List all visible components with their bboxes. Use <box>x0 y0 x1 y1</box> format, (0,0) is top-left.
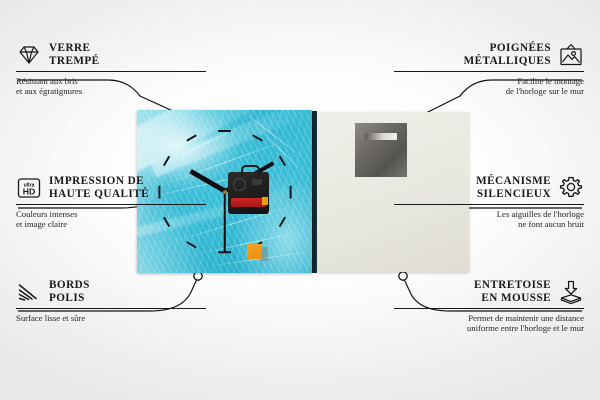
feature-verre-trempe: VERRE TREMPÉ Résistant aux bris et aux é… <box>16 42 206 97</box>
feature-description: Les aiguilles de l'horloge ne font aucun… <box>394 209 584 230</box>
hanger-plate-slot <box>365 133 397 140</box>
feature-divider <box>16 71 206 72</box>
feature-divider <box>394 71 584 72</box>
foam-spacer-shadow <box>261 247 268 261</box>
ultra-hd-icon: ultra HD <box>16 175 42 201</box>
feature-description: Résistant aux bris et aux égratignures <box>16 76 206 97</box>
feature-impression-haute-qualite: ultra HD IMPRESSION DE HAUTE QUALITÉ Cou… <box>16 175 206 230</box>
svg-text:HD: HD <box>23 187 35 197</box>
mechanism-chip <box>252 179 262 185</box>
feature-bords-polis: BORDS POLIS Surface lisse et sûre <box>16 279 206 323</box>
clock-tick <box>289 185 291 198</box>
metal-hanger-plate <box>355 123 407 177</box>
feature-title: BORDS POLIS <box>49 279 90 304</box>
feature-entretoise-en-mousse: ENTRETOISE EN MOUSSE Permet de maintenir… <box>394 279 584 334</box>
feature-mecanisme-silencieux: MÉCANISME SILENCIEUX Les aiguilles de l'… <box>394 175 584 230</box>
feature-divider <box>394 308 584 309</box>
clock-tick <box>253 135 263 142</box>
picture-hanger-icon <box>558 42 584 68</box>
feature-description: Surface lisse et sûre <box>16 313 206 324</box>
quartz-mechanism <box>228 172 269 214</box>
feature-title: VERRE TREMPÉ <box>49 42 100 67</box>
polished-edges-icon <box>16 279 42 305</box>
feature-divider <box>394 204 584 205</box>
mechanism-battery <box>231 198 266 207</box>
clock-tick <box>186 135 196 142</box>
feature-title: ENTRETOISE EN MOUSSE <box>474 279 551 304</box>
clock-tick <box>163 155 170 165</box>
mechanism-dial <box>233 178 246 191</box>
clock-tick <box>279 217 286 227</box>
clock-tick <box>186 241 196 248</box>
feature-description: Couleurs intenses et image claire <box>16 209 206 230</box>
feature-divider <box>16 204 206 205</box>
mechanism-hanging-loop <box>241 165 260 176</box>
infographic-canvas: VERRE TREMPÉ Résistant aux bris et aux é… <box>0 0 600 400</box>
mechanism-battery-tip <box>262 197 268 205</box>
diamond-icon <box>16 42 42 68</box>
foam-spacer <box>247 244 262 259</box>
clock-second-hand <box>224 192 226 252</box>
clock-tick <box>218 130 231 132</box>
feature-title: IMPRESSION DE HAUTE QUALITÉ <box>49 175 149 200</box>
feature-description: Permet de maintenir une distance uniform… <box>394 313 584 334</box>
foam-spacer-icon <box>558 279 584 305</box>
clock-tick <box>279 155 286 165</box>
feature-description: Facilite le montage de l'horloge sur le … <box>394 76 584 97</box>
feature-poignees-metalliques: POIGNÉES MÉTALLIQUES Facilite le montage… <box>394 42 584 97</box>
feature-title: MÉCANISME SILENCIEUX <box>476 175 551 200</box>
feature-title: POIGNÉES MÉTALLIQUES <box>464 42 551 67</box>
clock-hand-center <box>223 190 227 194</box>
feature-divider <box>16 308 206 309</box>
gear-icon <box>558 175 584 201</box>
